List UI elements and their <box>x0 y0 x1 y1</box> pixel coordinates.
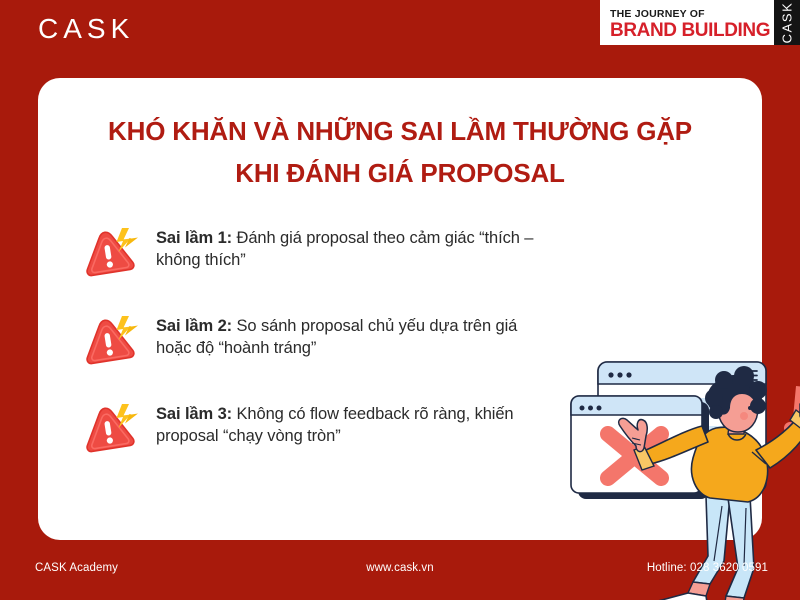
list-item: Sai lầm 2: So sánh proposal chủ yếu dựa … <box>80 311 550 371</box>
warning-triangle-icon <box>80 313 142 371</box>
page-footer: CASK Academy www.cask.vn Hotline: 028 36… <box>0 540 800 600</box>
badge-strip-label: CASK <box>780 2 795 44</box>
list-item-label: Sai lầm 2: <box>156 317 232 335</box>
list-item-text: Sai lầm 1: Đánh giá proposal theo cảm gi… <box>156 223 550 272</box>
page-title: KHÓ KHĂN VÀ NHỮNG SAI LẦM THƯỜNG GẶP KHI… <box>38 110 762 194</box>
content-card: KHÓ KHĂN VÀ NHỮNG SAI LẦM THƯỜNG GẶP KHI… <box>38 78 762 540</box>
list-item-text: Sai lầm 3: Không có flow feedback rõ ràn… <box>156 399 550 448</box>
footer-hotline: Hotline: 028 3620 0591 <box>647 562 768 574</box>
list-item: Sai lầm 3: Không có flow feedback rõ ràn… <box>80 399 550 459</box>
badge-text-block: THE JOURNEY OF BRAND BUILDING <box>600 0 774 45</box>
warning-triangle-icon <box>80 225 142 283</box>
badge-title: BRAND BUILDING <box>610 21 774 41</box>
list-item: Sai lầm 1: Đánh giá proposal theo cảm gi… <box>80 223 550 283</box>
journey-of-brand-building-badge: THE JOURNEY OF BRAND BUILDING CASK <box>600 0 800 45</box>
badge-vertical-strip: CASK <box>774 0 800 45</box>
title-line-2: KHI ĐÁNH GIÁ PROPOSAL <box>68 152 732 194</box>
list-item-label: Sai lầm 3: <box>156 405 232 423</box>
mistakes-list: Sai lầm 1: Đánh giá proposal theo cảm gi… <box>80 223 550 459</box>
cask-logo: CASK <box>38 13 134 45</box>
title-line-1: KHÓ KHĂN VÀ NHỮNG SAI LẦM THƯỜNG GẶP <box>68 110 732 152</box>
warning-triangle-icon <box>80 401 142 459</box>
page-header: CASK THE JOURNEY OF BRAND BUILDING CASK <box>0 0 800 60</box>
list-item-label: Sai lầm 1: <box>156 229 232 247</box>
list-item-text: Sai lầm 2: So sánh proposal chủ yếu dựa … <box>156 311 550 360</box>
